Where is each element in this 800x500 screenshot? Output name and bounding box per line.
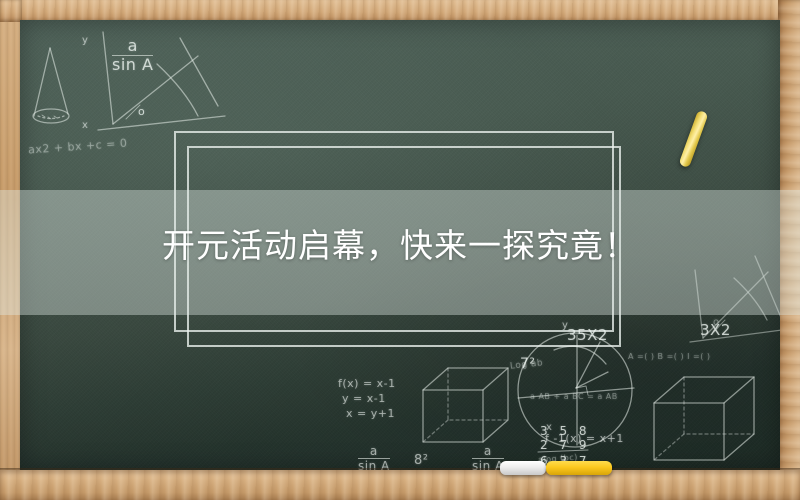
cone-sketch-topleft bbox=[33, 48, 69, 123]
yellow-chalk-piece bbox=[546, 461, 612, 475]
frame-top-rail bbox=[0, 0, 800, 22]
fraction-a-over-sina-mid: a sin A bbox=[472, 445, 504, 470]
cube-sketch-right bbox=[654, 377, 754, 460]
fraction-a-over-sina-left: a sin A bbox=[358, 445, 390, 470]
sum-row-2: 2 7 9 bbox=[540, 438, 591, 452]
axis-label-x-topleft: x bbox=[82, 120, 88, 131]
fraction-numerator: a bbox=[472, 445, 504, 458]
cube-sketch-center bbox=[423, 368, 508, 442]
axis-label-y-topleft: y bbox=[82, 35, 88, 46]
term-3x2: 3X2 bbox=[700, 321, 731, 339]
function-fx: f(x) = x-1 bbox=[338, 377, 396, 390]
fraction-numerator: a bbox=[112, 38, 153, 55]
chalk-ledge bbox=[0, 470, 800, 500]
eight-squared: 8² bbox=[414, 453, 428, 468]
headline-text: 开元活动启幕，快来一探究竟！ bbox=[0, 226, 800, 266]
fraction-denominator: sin A bbox=[112, 55, 153, 74]
fraction-numerator: a bbox=[358, 445, 390, 458]
angle-label-topleft: o bbox=[138, 105, 145, 118]
function-y: y = x-1 bbox=[342, 392, 386, 405]
matrix-notation: A =( ) B =( ) I =( ) bbox=[628, 352, 711, 361]
white-chalk-piece bbox=[500, 461, 546, 475]
fraction-a-over-sina-topleft: a sin A bbox=[112, 38, 153, 74]
chalkboard-banner: y x o a sin A ax2 + bx +c = 0 o f(x) = x… bbox=[0, 0, 800, 500]
sum-row-1: 3 5 8 bbox=[540, 424, 591, 438]
vector-identity: a AB + a BC = a AB bbox=[530, 392, 618, 401]
function-x: x = y+1 bbox=[346, 407, 395, 420]
